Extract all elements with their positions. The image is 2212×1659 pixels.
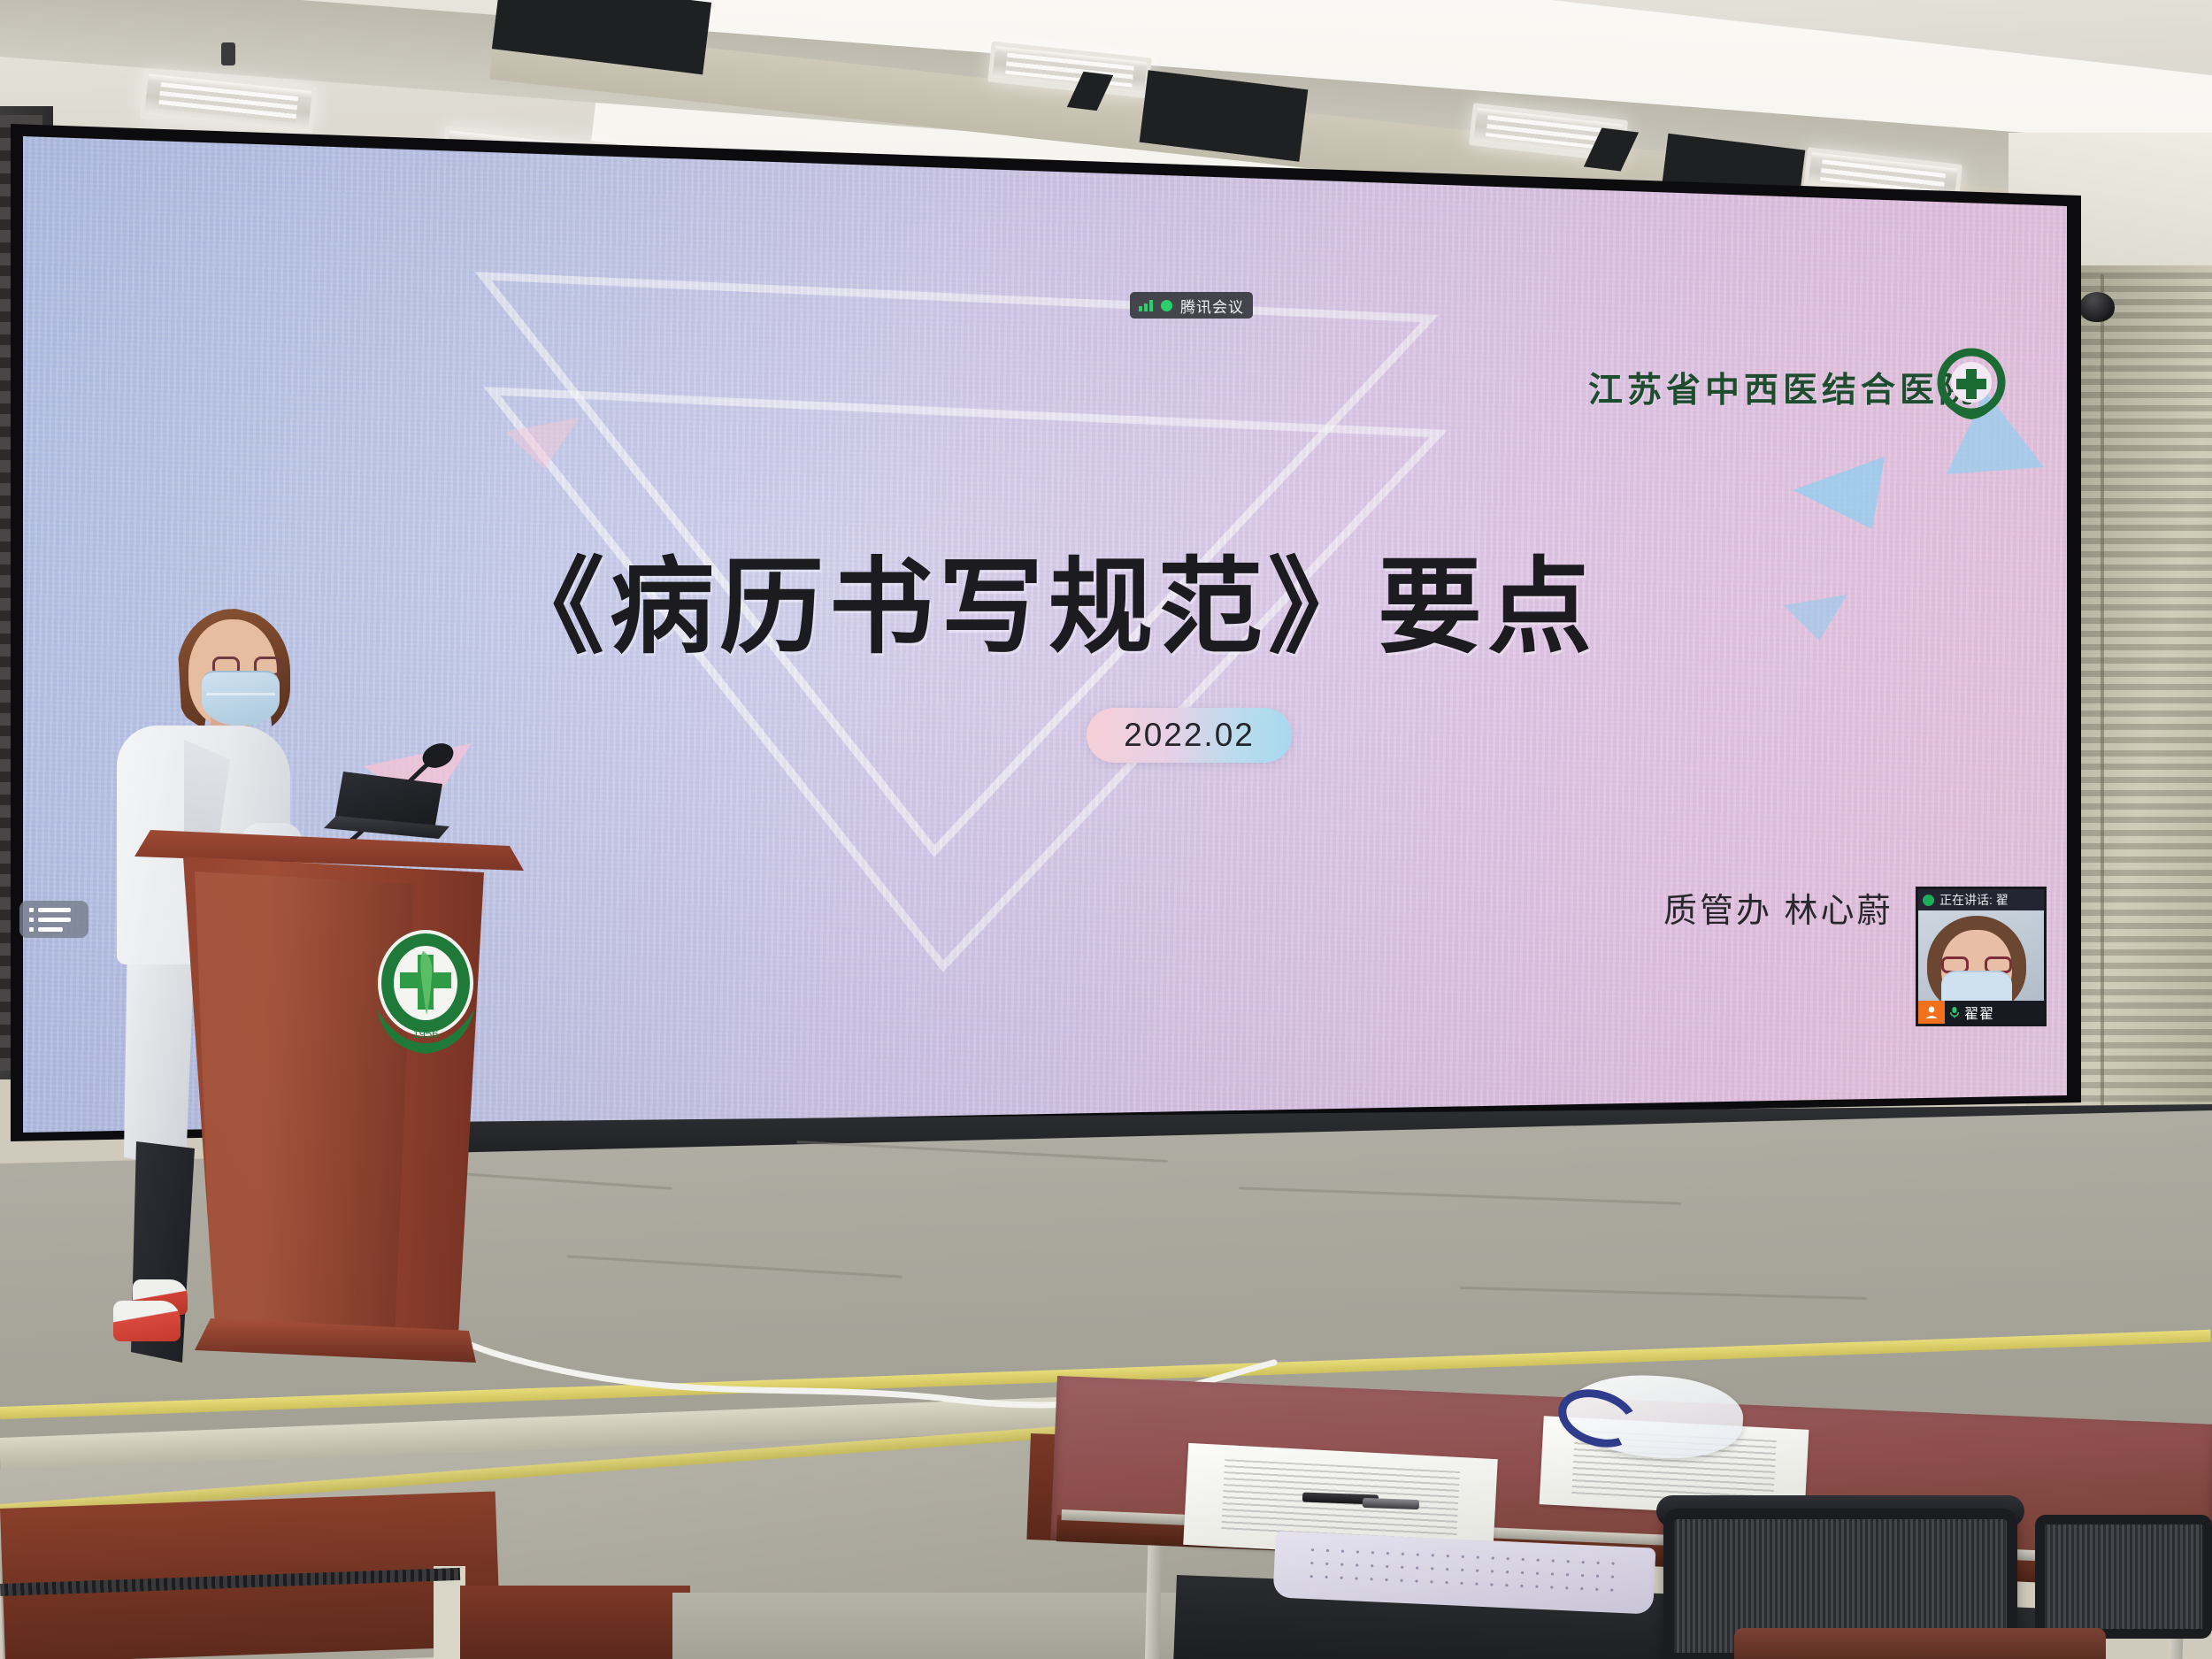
decorative-triangle-blue (1793, 444, 1908, 537)
participant-name: 翟翟 (1964, 1002, 1994, 1023)
hospital-emblem-icon: 1956 (372, 925, 480, 1056)
slide-date-badge: 2022.02 (1087, 708, 1292, 763)
chair-seat (1734, 1628, 2106, 1659)
hospital-name: 江苏省中西医结合医院 (1588, 363, 1978, 412)
list-row (29, 908, 88, 912)
speaking-label: 正在讲话: 翟 (1939, 891, 2008, 909)
tray-perforation (1304, 1543, 1625, 1600)
participant-avatar-icon (1918, 1001, 1945, 1024)
participant-name-bar: 翟翟 (1918, 1001, 2044, 1024)
face-mask-icon (1941, 971, 2012, 1001)
pen[interactable] (1363, 1498, 1419, 1509)
speaker-coat-lower (124, 938, 195, 1168)
lecture-hall-scene: 江苏省中西医结合医院 《病历书写规范》要点 2022.02 质管办 林心蔚 腾讯… (0, 0, 2212, 1659)
participant-video-thumbnail[interactable]: 正在讲话: 翟 翟翟 (1916, 887, 2047, 1026)
decorative-triangle-pink-small (505, 418, 585, 477)
mesh-office-chair-icon[interactable] (2035, 1515, 2212, 1639)
list-row (29, 927, 88, 932)
slide-title: 《病历书写规范》要点 (500, 522, 1597, 673)
foreground-desk-left-panel (460, 1586, 690, 1659)
video-feed (1918, 910, 2044, 1001)
green-status-dot-icon (1161, 300, 1172, 311)
decorative-triangle-blue-small (1784, 595, 1855, 650)
face-mask-icon (202, 671, 280, 726)
microphone-icon (1949, 1006, 1960, 1018)
security-camera-icon (2079, 292, 2115, 322)
podium-emblem-year: 1956 (413, 1027, 439, 1041)
camera-mount (221, 42, 235, 65)
presenter-credit: 质管办 林心蔚 (1663, 883, 1893, 932)
speaker-shoe (113, 1301, 180, 1341)
list-row (29, 918, 88, 922)
microphone-icon (1923, 895, 1934, 906)
list-menu-icon[interactable] (19, 901, 88, 938)
speaking-status-bar: 正在讲话: 翟 (1918, 889, 2044, 910)
tencent-meeting-bar[interactable]: 腾讯会议 (1130, 292, 1253, 319)
tencent-meeting-label: 腾讯会议 (1180, 295, 1244, 317)
hospital-emblem-icon (1933, 347, 2009, 423)
signal-bars-icon (1139, 299, 1153, 311)
